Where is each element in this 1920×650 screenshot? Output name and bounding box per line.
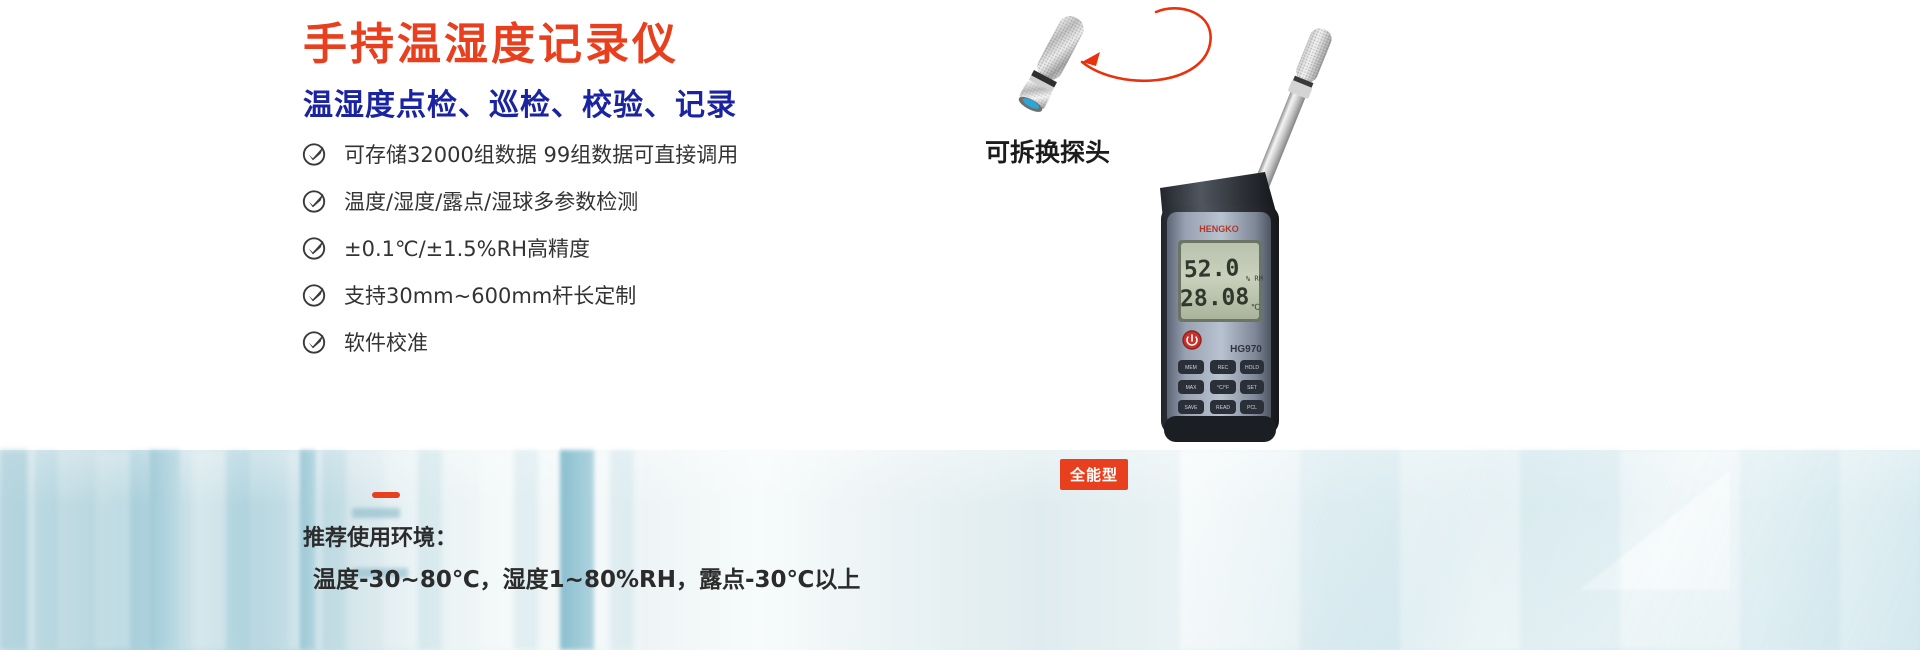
note-dash-divider bbox=[372, 492, 400, 498]
svg-text:SAVE: SAVE bbox=[1185, 405, 1199, 411]
product-banner: 手持温湿度记录仪 温湿度点检、巡检、校验、记录 可存储32000组数据 99组数… bbox=[0, 0, 1920, 650]
strip-shelf-a bbox=[150, 450, 180, 650]
circle-check-icon bbox=[302, 188, 328, 214]
feature-text: 温度/湿度/露点/湿球多参数检测 bbox=[344, 186, 638, 216]
status-badge: 全能型 bbox=[1060, 459, 1128, 490]
svg-text:MEM: MEM bbox=[1185, 365, 1197, 371]
page-subtitle: 温湿度点检、巡检、校验、记录 bbox=[303, 80, 737, 124]
lcd-humidity-value: 52.0 bbox=[1183, 255, 1239, 283]
feature-text: ±0.1℃/±1.5%RH高精度 bbox=[344, 233, 590, 263]
strip-mark-a bbox=[352, 508, 400, 518]
circle-check-icon bbox=[302, 329, 328, 355]
handheld-meter-image: HENGKO 52.0 % RH 28.08 ℃ HG970 bbox=[1060, 0, 1380, 650]
circle-check-icon bbox=[302, 282, 328, 308]
feature-text: 软件校准 bbox=[344, 327, 428, 357]
lcd-humidity-unit: % RH bbox=[1246, 275, 1263, 284]
lcd-temperature-value: 28.08 bbox=[1180, 284, 1250, 312]
feature-list: 可存储32000组数据 99组数据可直接调用 温度/湿度/露点/湿球多参数检测 … bbox=[302, 130, 738, 365]
strip-shelf-c bbox=[560, 450, 594, 650]
svg-text:REC: REC bbox=[1218, 365, 1229, 371]
svg-text:°C/°F: °C/°F bbox=[1217, 385, 1229, 391]
strip-highlight-triangle bbox=[1580, 470, 1730, 590]
svg-text:PCL: PCL bbox=[1247, 405, 1257, 411]
environment-note-title: 推荐使用环境： bbox=[303, 520, 457, 552]
device-brand: HENGKO bbox=[1199, 224, 1239, 234]
list-item: ±0.1℃/±1.5%RH高精度 bbox=[302, 224, 738, 271]
svg-text:HOLD: HOLD bbox=[1245, 365, 1259, 371]
probe-callout-label: 可拆换探头 bbox=[985, 133, 1110, 169]
device-model: HG970 bbox=[1230, 344, 1262, 355]
environment-note-detail: 温度-30~80℃，湿度1~80%RH，露点-30℃以上 bbox=[313, 560, 860, 594]
background-photo-strip bbox=[0, 450, 1920, 650]
circle-check-icon bbox=[302, 141, 328, 167]
list-item: 支持30mm~600mm杆长定制 bbox=[302, 271, 738, 318]
lcd-temperature-unit: ℃ bbox=[1251, 303, 1260, 312]
feature-text: 可存储32000组数据 99组数据可直接调用 bbox=[344, 139, 738, 169]
list-item: 温度/湿度/露点/湿球多参数检测 bbox=[302, 177, 738, 224]
svg-text:SET: SET bbox=[1247, 385, 1257, 391]
circle-check-icon bbox=[302, 235, 328, 261]
feature-text: 支持30mm~600mm杆长定制 bbox=[344, 280, 636, 310]
list-item: 软件校准 bbox=[302, 318, 738, 365]
page-title: 手持温湿度记录仪 bbox=[303, 8, 679, 72]
svg-text:READ: READ bbox=[1216, 405, 1230, 411]
svg-text:MAX: MAX bbox=[1186, 385, 1198, 391]
list-item: 可存储32000组数据 99组数据可直接调用 bbox=[302, 130, 738, 177]
